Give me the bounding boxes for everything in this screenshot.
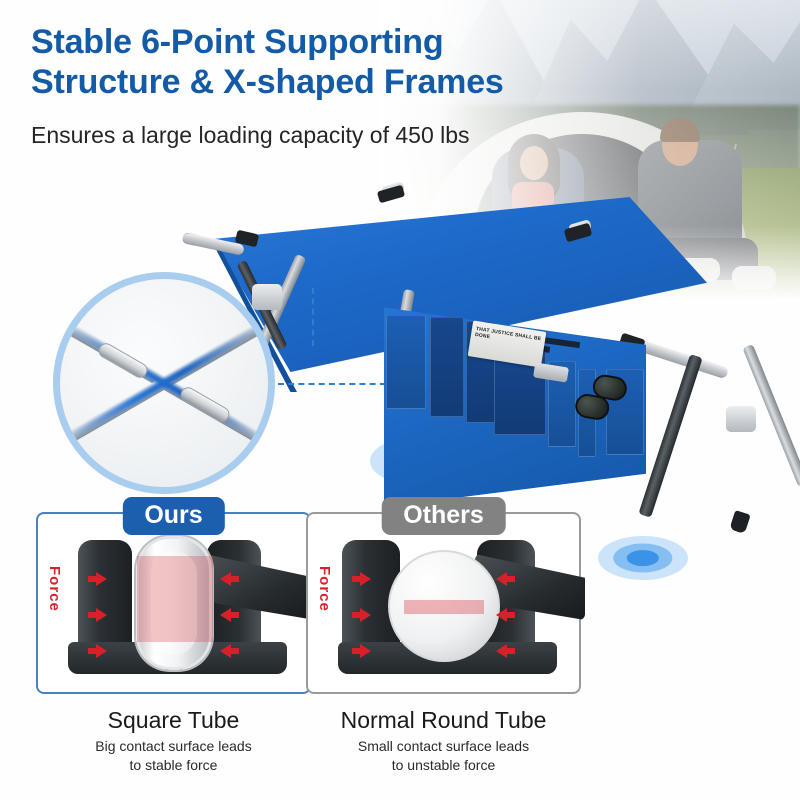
x-frame-lock-knuckle	[178, 385, 232, 425]
force-arrow-right	[360, 644, 371, 658]
product-infographic: Stable 6-Point Supporting Structure & X-…	[0, 0, 800, 800]
force-label-others: Force	[316, 566, 333, 612]
others-badge: Others	[381, 497, 506, 535]
force-arrow-stem	[352, 648, 360, 654]
force-arrow-stem	[507, 648, 515, 654]
others-sub-line-1: Small contact surface leads	[306, 737, 581, 756]
force-label-ours: Force	[46, 566, 63, 612]
x-frame-magnifier	[53, 272, 275, 494]
force-arrow-stem	[352, 612, 360, 618]
force-arrow-stem	[507, 576, 515, 582]
force-arrow-left	[220, 644, 231, 658]
force-arrow-stem	[231, 612, 239, 618]
others-image-frame: Others Force	[306, 512, 581, 694]
callout-dashed-line	[278, 383, 396, 385]
ours-sub-line-2: to stable force	[36, 756, 311, 775]
force-arrow-stem	[231, 648, 239, 654]
sunglasses-in-pocket	[573, 370, 636, 425]
round-tube	[388, 550, 500, 662]
force-arrow-left	[220, 608, 231, 622]
subheadline: Ensures a large loading capacity of 450 …	[31, 120, 470, 150]
comparison-section: Ours Force	[0, 512, 800, 800]
headline-line-2: Structure & X-shaped Frames	[31, 62, 671, 102]
force-arrow-stem	[352, 576, 360, 582]
force-arrow-stem	[88, 576, 96, 582]
force-arrow-stem	[88, 648, 96, 654]
organizer-mesh-pocket	[430, 317, 464, 417]
ours-sub-line-1: Big contact surface leads	[36, 737, 311, 756]
force-arrow-stem	[88, 612, 96, 618]
ours-image-frame: Ours Force	[36, 512, 311, 694]
ours-badge: Ours	[122, 497, 224, 535]
others-title: Normal Round Tube	[306, 706, 581, 734]
cot-leg-right-a	[638, 354, 702, 518]
others-sub-line-2: to unstable force	[306, 756, 581, 775]
force-arrow-left	[496, 644, 507, 658]
organizer-pocket	[386, 315, 426, 409]
comparison-card-others: Others Force	[306, 512, 581, 775]
contact-surface-band-large	[137, 556, 213, 642]
headline-line-1: Stable 6-Point Supporting	[31, 22, 671, 62]
comparison-card-ours: Ours Force	[36, 512, 311, 775]
force-arrow-left	[220, 572, 231, 586]
force-arrow-left	[496, 572, 507, 586]
x-frame-lock-knuckle	[96, 341, 150, 381]
x-frame-joint-left	[252, 284, 282, 310]
force-arrow-right	[360, 608, 371, 622]
force-arrow-stem	[231, 576, 239, 582]
force-arrow-left	[496, 608, 507, 622]
contact-surface-band-small	[404, 600, 484, 614]
cot-rail-right	[634, 338, 729, 379]
force-arrow-right	[96, 608, 107, 622]
callout-dashed-vertical	[312, 288, 314, 346]
ours-title: Square Tube	[36, 706, 311, 734]
x-frame-joint-right	[726, 406, 756, 432]
force-arrow-right	[96, 572, 107, 586]
headline-block: Stable 6-Point Supporting Structure & X-…	[31, 22, 671, 102]
force-arrow-stem	[507, 612, 515, 618]
force-arrow-right	[360, 572, 371, 586]
force-arrow-right	[96, 644, 107, 658]
